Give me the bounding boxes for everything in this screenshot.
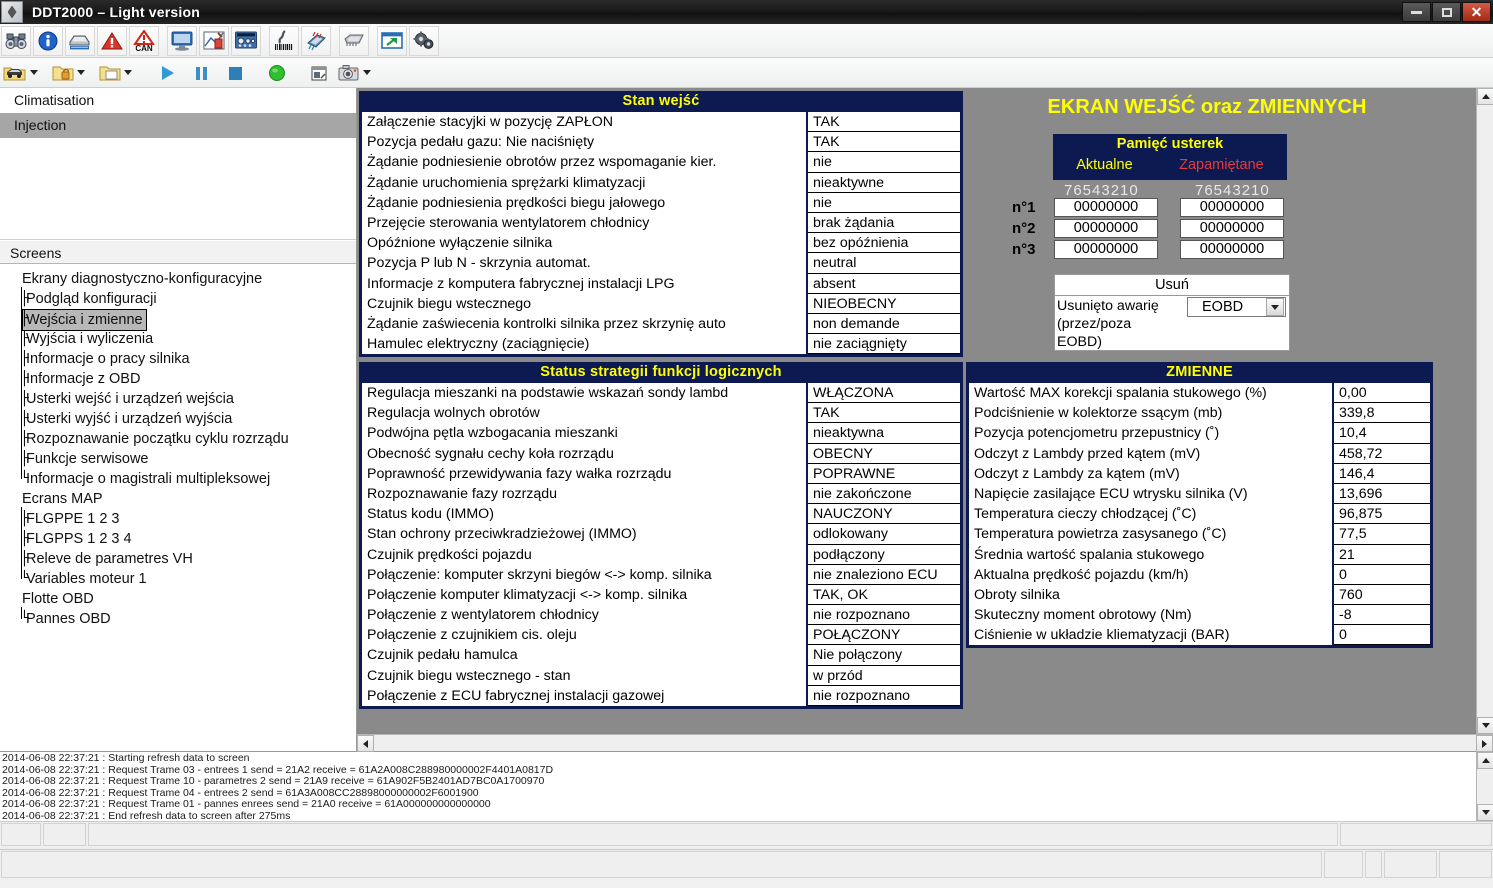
tree-hook-icon: └	[20, 569, 29, 589]
row-value: nieaktywna	[808, 423, 960, 443]
tree-hook-icon: ├	[20, 349, 29, 369]
ecu-list: ClimatisationInjection	[0, 88, 356, 240]
row-value: nie rozpoznano	[808, 605, 960, 625]
fault-current-field[interactable]: 00000000	[1054, 240, 1158, 259]
tree-item-label: Wyjścia i wyliczenia	[22, 329, 157, 349]
connector-icon[interactable]	[301, 26, 331, 56]
binoculars-icon[interactable]	[1, 26, 31, 56]
tree-group: Ecrans MAP	[0, 489, 356, 509]
row-label: Czujnik pedału hamulca	[362, 645, 806, 665]
status-bar-top	[0, 821, 1493, 847]
row-value: TAK	[808, 132, 960, 152]
row-value: POŁĄCZONY	[808, 625, 960, 645]
info-icon[interactable]	[33, 26, 63, 56]
row-value: non demande	[808, 314, 960, 334]
play-button[interactable]	[151, 60, 183, 86]
tree-children: ├Podgląd konfiguracji├Wejścia i zmienne├…	[0, 289, 356, 489]
panel-inputs-title: Stan wejść	[360, 92, 962, 112]
row-label: Żądanie uruchomienia sprężarki klimatyza…	[362, 173, 806, 193]
tree-item-label: Informacje z OBD	[22, 369, 144, 389]
row-label: Odczyt z Lambdy przed kątem (mV)	[969, 444, 1332, 464]
close-button[interactable]: ✕	[1462, 2, 1491, 22]
row-label: Skuteczny moment obrotowy (Nm)	[969, 605, 1332, 625]
row-label: Połączenie komputer klimatyzacji <-> kom…	[362, 585, 806, 605]
tree-item-label: Informacje o magistrali multipleksowej	[22, 469, 274, 489]
row-label: Połączenie z czujnikiem cis. oleju	[362, 625, 806, 645]
row-value: nie	[808, 152, 960, 172]
chart-icon[interactable]	[199, 26, 229, 56]
gauges-icon[interactable]	[231, 26, 261, 56]
fault-memory-title: Pamięć usterek	[1053, 134, 1287, 154]
row-value: nie zakończone	[808, 484, 960, 504]
open-folder-button[interactable]	[98, 60, 137, 86]
open-locked-folder-button[interactable]	[51, 60, 90, 86]
tree-item-label: Funkcje serwisowe	[22, 449, 153, 469]
row-value: NIEOBECNY	[808, 294, 960, 314]
scroll-right-button[interactable]	[1476, 735, 1493, 752]
tree-hook-icon: ├	[20, 449, 29, 469]
row-label: Temperatura cieczy chłodzącej (˚C)	[969, 504, 1332, 524]
screens-tree: Ekrany diagnostyczno-konfiguracyjne├Podg…	[0, 264, 356, 751]
tree-item[interactable]: ├Wejścia i zmienne	[0, 309, 356, 329]
row-label: Temperatura powietrza zasysanego (˚C)	[969, 524, 1332, 544]
row-label: Przejęcie sterowania wentylatorem chłodn…	[362, 213, 806, 233]
barcode-icon[interactable]	[269, 26, 299, 56]
fault-memory-current-label: Aktualne	[1076, 154, 1132, 176]
row-label: Obroty silnika	[969, 585, 1332, 605]
ecu-item-injection[interactable]: Injection	[0, 113, 356, 138]
main-area: ClimatisationInjection Screens Ekrany di…	[0, 88, 1493, 751]
canvas-vertical-scrollbar[interactable]	[1476, 88, 1493, 734]
tree-hook-icon: ├	[20, 509, 29, 529]
tree-item-label: Usterki wyjść i urządzeń wyjścia	[22, 409, 236, 429]
row-label: Poprawność przewidywania fazy wałka rozr…	[362, 464, 806, 484]
row-value: 339,8	[1334, 403, 1430, 423]
row-label: Stan ochrony przeciwkradzieżowej (IMMO)	[362, 524, 806, 544]
tree-item[interactable]: ├FLGPPE 1 2 3	[0, 509, 356, 529]
chip-icon[interactable]	[339, 26, 369, 56]
row-label: Połączenie: komputer skrzyni biegów <-> …	[362, 565, 806, 585]
fault-current-field[interactable]: 00000000	[1054, 219, 1158, 238]
tree-item[interactable]: └Informacje o magistrali multipleksowej	[0, 469, 356, 489]
row-label: Średnia wartość spalania stukowego	[969, 545, 1332, 565]
chevron-down-icon[interactable]	[77, 70, 85, 75]
row-label: Regulacja mieszanki na podstawie wskazań…	[362, 383, 806, 403]
chevron-down-icon[interactable]	[124, 70, 132, 75]
tree-item[interactable]: ├Podgląd konfiguracji	[0, 289, 356, 309]
status-cell	[1365, 851, 1382, 878]
clear-desc-line2: (przez/poza	[1057, 315, 1289, 333]
window-title: DDT2000 – Light version	[32, 4, 200, 20]
tree-item[interactable]: └Pannes OBD	[0, 609, 356, 629]
row-value: WŁĄCZONA	[808, 383, 960, 403]
log-line: 2014-06-08 22:37:21 : Starting refresh d…	[2, 753, 1476, 765]
panel-inputs-values: TAKTAKnienieaktywneniebrak żądaniabez op…	[808, 112, 960, 354]
panel-logic-labels: Regulacja mieszanki na podstawie wskazań…	[362, 383, 806, 706]
status-cell	[43, 823, 86, 846]
log-vertical-scrollbar[interactable]	[1476, 752, 1493, 821]
row-label: Opóźnione wyłączenie silnika	[362, 233, 806, 253]
log-line: 2014-06-08 22:37:21 : End refresh data t…	[2, 811, 1476, 821]
log-console: 2014-06-08 22:37:21 : Starting refresh d…	[0, 751, 1493, 821]
row-value: 77,5	[1334, 524, 1430, 544]
tree-item-label: Pannes OBD	[22, 609, 115, 629]
action-toolbar	[0, 58, 1493, 88]
scroll-left-button[interactable]	[357, 735, 374, 752]
tree-hook-icon: ├	[20, 329, 29, 349]
right-panel-title: EKRAN WEJŚĆ oraz ZMIENNYCH	[967, 96, 1447, 119]
export-window-icon[interactable]	[377, 26, 407, 56]
panel-logic-strategy: Status strategii funkcji logicznych Regu…	[359, 362, 963, 709]
row-value: 10,4	[1334, 423, 1430, 443]
tree-hook-icon: ├	[20, 309, 29, 329]
status-cell	[1439, 851, 1492, 878]
tree-group: Flotte OBD	[0, 589, 356, 609]
row-label: Pozycja P lub N - skrzynia automat.	[362, 253, 806, 273]
row-value: neutral	[808, 253, 960, 273]
ecu-item-climatisation[interactable]: Climatisation	[0, 88, 356, 113]
row-label: Załączenie stacyjki w pozycję ZAPŁON	[362, 112, 806, 132]
gears-icon[interactable]	[409, 26, 439, 56]
fault-row-index: n°2	[1012, 220, 1036, 237]
tree-item-label: FLGPPE 1 2 3	[22, 509, 124, 529]
tree-hook-icon: ├	[20, 389, 29, 409]
row-value: 0,00	[1334, 383, 1430, 403]
row-value: TAK	[808, 403, 960, 423]
row-value: 96,875	[1334, 504, 1430, 524]
status-cell	[1324, 851, 1363, 878]
tree-item[interactable]: └Variables moteur 1	[0, 569, 356, 589]
fault-stored-field[interactable]: 00000000	[1180, 198, 1284, 217]
clear-desc-line3: EOBD)	[1057, 333, 1289, 351]
save-screen-button[interactable]	[303, 60, 335, 86]
row-value: absent	[808, 274, 960, 294]
panel-inputs-labels: Załączenie stacyjki w pozycję ZAPŁONPozy…	[362, 112, 806, 354]
status-led-icon[interactable]	[259, 60, 295, 86]
canvas-horizontal-scrollbar[interactable]	[357, 734, 1493, 751]
stop-button[interactable]	[219, 60, 251, 86]
tree-group: Ekrany diagnostyczno-konfiguracyjne	[0, 269, 356, 289]
tree-hook-icon: └	[20, 609, 29, 629]
chevron-down-icon[interactable]	[1266, 298, 1284, 316]
row-value: nieaktywne	[808, 173, 960, 193]
toolbar-separator	[160, 28, 166, 54]
row-label: Czujnik prędkości pojazdu	[362, 545, 806, 565]
panel-variables: ZMIENNE Wartość MAX korekcji spalania st…	[966, 362, 1433, 648]
row-label: Czujnik biegu wstecznego	[362, 294, 806, 314]
scroll-down-button[interactable]	[1477, 717, 1493, 734]
open-vehicle-button[interactable]	[2, 60, 43, 86]
row-label: Hamulec elektryczny (zaciągnięcie)	[362, 334, 806, 354]
fault-stored-field[interactable]: 00000000	[1180, 219, 1284, 238]
row-value: nie	[808, 193, 960, 213]
window-title-bar: DDT2000 – Light version ✕	[0, 0, 1493, 24]
toolbar-separator	[370, 28, 376, 54]
row-label: Żądanie podniesienia prędkości biegu jał…	[362, 193, 806, 213]
tree-item[interactable]: ├Usterki wejść i urządzeń wejścia	[0, 389, 356, 409]
row-value: 458,72	[1334, 444, 1430, 464]
tree-item-label: Rozpoznawanie początku cyklu rozrządu	[22, 429, 293, 449]
log-scroll-up-button[interactable]	[1477, 752, 1493, 769]
svg-text:CAN: CAN	[135, 44, 153, 52]
tree-item-label: Informacje o pracy silnika	[22, 349, 194, 369]
row-value: nie rozpoznano	[808, 686, 960, 706]
bit-header-right: 76543210	[1195, 182, 1270, 199]
row-value: brak żądania	[808, 213, 960, 233]
row-value: 0	[1334, 565, 1430, 585]
row-value: TAK, OK	[808, 585, 960, 605]
tree-hook-icon: ├	[20, 409, 29, 429]
log-lines[interactable]: 2014-06-08 22:37:21 : Starting refresh d…	[0, 752, 1476, 821]
eobd-select-value: EOBD	[1188, 299, 1266, 315]
tree-hook-icon: ├	[20, 529, 29, 549]
maximize-button[interactable]	[1432, 2, 1461, 22]
tree-item-label: Releve de parametres VH	[22, 549, 197, 569]
toolbar-separator	[262, 28, 268, 54]
row-label: Obecność sygnału cechy koła rozrządu	[362, 444, 806, 464]
row-label: Informacje z komputera fabrycznej instal…	[362, 274, 806, 294]
row-value: NAUCZONY	[808, 504, 960, 524]
row-value: bez opóźnienia	[808, 233, 960, 253]
main-toolbar: CAN	[0, 24, 1493, 58]
fault-row-index: n°1	[1012, 199, 1036, 216]
scroll-track-horizontal[interactable]	[374, 735, 1476, 751]
status-cell	[1, 851, 1322, 878]
tree-item[interactable]: ├FLGPPS 1 2 3 4	[0, 529, 356, 549]
status-cell	[1340, 823, 1492, 846]
tree-item-label: Usterki wejść i urządzeń wejścia	[22, 389, 238, 409]
chevron-down-icon[interactable]	[30, 70, 38, 75]
row-label: Status kodu (IMMO)	[362, 504, 806, 524]
tree-item-label: Podgląd konfiguracji	[22, 289, 161, 309]
row-value: w przód	[808, 666, 960, 686]
tree-hook-icon: ├	[20, 549, 29, 569]
row-value: nie znaleziono ECU	[808, 565, 960, 585]
clear-faults-button[interactable]: Usuń	[1054, 274, 1290, 296]
tree-item-label: FLGPPS 1 2 3 4	[22, 529, 136, 549]
row-label: Ciśnienie w układzie kliematyzacji (BAR)	[969, 625, 1332, 645]
minimize-button[interactable]	[1402, 2, 1431, 22]
chevron-down-icon[interactable]	[363, 70, 371, 75]
row-value: 760	[1334, 585, 1430, 605]
sidebar: ClimatisationInjection Screens Ekrany di…	[0, 88, 357, 751]
tree-item[interactable]: ├Informacje o pracy silnika	[0, 349, 356, 369]
row-label: Pozycja potencjometru przepustnicy (˚)	[969, 423, 1332, 443]
fault-memory-box: Pamięć usterek Aktualne Zapamiętane	[1053, 134, 1287, 180]
tree-item-label: Wejścia i zmienne	[22, 309, 147, 331]
scroll-up-button[interactable]	[1477, 88, 1493, 105]
fault-current-field[interactable]: 00000000	[1054, 198, 1158, 217]
row-label: Regulacja wolnych obrotów	[362, 403, 806, 423]
window-controls: ✕	[1402, 2, 1491, 22]
diagnostic-canvas: Stan wejść Załączenie stacyjki w pozycję…	[357, 88, 1476, 734]
row-label: Podciśnienie w kolektorze ssącym (mb)	[969, 403, 1332, 423]
tree-children: └Pannes OBD	[0, 609, 356, 629]
row-value: -8	[1334, 605, 1430, 625]
row-label: Połączenie z ECU fabrycznej instalacji g…	[362, 686, 806, 706]
row-value: OBECNY	[808, 444, 960, 464]
row-value: Nie połączony	[808, 645, 960, 665]
row-value: nie zaciągnięty	[808, 334, 960, 354]
panel-logic-title: Status strategii funkcji logicznych	[360, 363, 962, 383]
row-value: 146,4	[1334, 464, 1430, 484]
row-label: Odczyt z Lambdy za kątem (mV)	[969, 464, 1332, 484]
tree-item[interactable]: ├Rozpoznawanie początku cyklu rozrządu	[0, 429, 356, 449]
row-value: POPRAWNE	[808, 464, 960, 484]
eobd-select[interactable]: EOBD	[1187, 297, 1286, 317]
status-cell	[1384, 851, 1437, 878]
fault-row-index: n°3	[1012, 241, 1036, 258]
log-scroll-track[interactable]	[1477, 769, 1493, 804]
tree-hook-icon: ├	[20, 429, 29, 449]
tree-item[interactable]: ├Releve de parametres VH	[0, 549, 356, 569]
panel-variables-title: ZMIENNE	[967, 363, 1432, 383]
row-label: Podwójna pętla wzbogacania mieszanki	[362, 423, 806, 443]
row-value: 13,696	[1334, 484, 1430, 504]
panel-variables-labels: Wartość MAX korekcji spalania stukowego …	[969, 383, 1332, 645]
tree-hook-icon: ├	[20, 289, 29, 309]
status-cell	[88, 823, 1338, 846]
monitor-icon[interactable]	[167, 26, 197, 56]
row-value: TAK	[808, 112, 960, 132]
row-value: odlokowany	[808, 524, 960, 544]
row-label: Rozpoznawanie fazy rozrządu	[362, 484, 806, 504]
status-bar-bottom	[0, 849, 1493, 879]
camera-button[interactable]	[337, 60, 376, 86]
vehicle-icon[interactable]	[65, 26, 95, 56]
tree-item[interactable]: ├Wyjścia i wyliczenia	[0, 329, 356, 349]
tree-item[interactable]: ├Funkcje serwisowe	[0, 449, 356, 469]
row-label: Czujnik biegu wstecznego - stan	[362, 666, 806, 686]
row-label: Żądanie zaświecenia kontrolki silnika pr…	[362, 314, 806, 334]
status-bars	[0, 821, 1493, 879]
tree-hook-icon: ├	[20, 369, 29, 389]
screens-header: Screens	[0, 240, 356, 264]
diagnostic-view: Stan wejść Załączenie stacyjki w pozycję…	[357, 88, 1493, 751]
row-label: Żądanie podniesienie obrotów przez wspom…	[362, 152, 806, 172]
status-cell	[1, 823, 41, 846]
tree-item[interactable]: ├Usterki wyjść i urządzeń wyjścia	[0, 409, 356, 429]
fault-stored-field[interactable]: 00000000	[1180, 240, 1284, 259]
fault-memory-stored-label: Zapamiętane	[1179, 154, 1264, 176]
log-scroll-down-button[interactable]	[1477, 804, 1493, 821]
row-label: Połączenie z wentylatorem chłodnicy	[362, 605, 806, 625]
toolbar-separator	[332, 28, 338, 54]
panel-variables-values: 0,00339,810,4458,72146,413,69696,87577,5…	[1334, 383, 1430, 645]
can-warning-icon[interactable]: CAN	[129, 26, 159, 56]
panel-inputs: Stan wejść Załączenie stacyjki w pozycję…	[359, 91, 963, 357]
tree-item-label: Variables moteur 1	[22, 569, 151, 589]
app-logo-icon	[1, 1, 23, 23]
warning-icon[interactable]	[97, 26, 127, 56]
row-value: 21	[1334, 545, 1430, 565]
panel-logic-values: WŁĄCZONATAKnieaktywnaOBECNYPOPRAWNEnie z…	[808, 383, 960, 706]
tree-item[interactable]: ├Informacje z OBD	[0, 369, 356, 389]
pause-button[interactable]	[185, 60, 217, 86]
scroll-track[interactable]	[1477, 105, 1493, 717]
tree-hook-icon: └	[20, 469, 29, 489]
row-value: podłączony	[808, 545, 960, 565]
row-label: Pozycja pedału gazu: Nie naciśnięty	[362, 132, 806, 152]
row-label: Wartość MAX korekcji spalania stukowego …	[969, 383, 1332, 403]
tree-children: ├FLGPPE 1 2 3├FLGPPS 1 2 3 4├Releve de p…	[0, 509, 356, 589]
bit-header-left: 76543210	[1064, 182, 1139, 199]
row-value: 0	[1334, 625, 1430, 645]
row-label: Aktualna prędkość pojazdu (km/h)	[969, 565, 1332, 585]
row-label: Napięcie zasilające ECU wtrysku silnika …	[969, 484, 1332, 504]
